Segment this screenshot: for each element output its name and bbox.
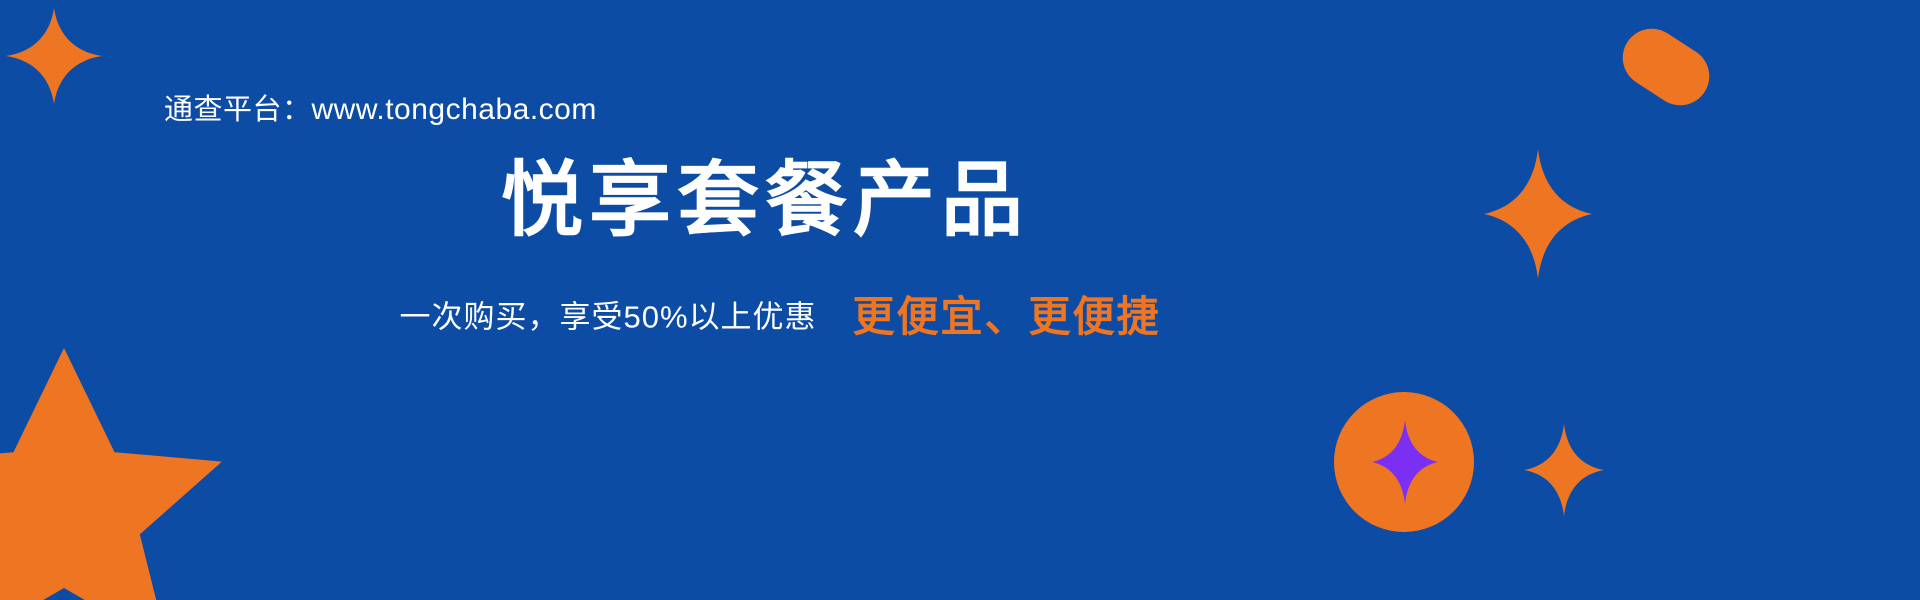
- platform-label: 通查平台：: [164, 94, 312, 126]
- subtitle-highlight-text: 更便宜、更便捷: [853, 293, 1161, 340]
- five-point-star-icon: [0, 348, 224, 600]
- subtitle-inner: 一次购买，享受50%以上优惠更便宜、更便捷: [399, 296, 1160, 338]
- platform-url: www.tongchaba.com: [312, 93, 597, 126]
- platform-url-line: 通查平台：www.tongchaba.com: [164, 86, 597, 128]
- sparkle-star-icon: [1524, 424, 1604, 516]
- sparkle-star-icon: [1372, 420, 1438, 504]
- subtitle-plain-text: 一次购买，享受50%以上优惠: [399, 300, 816, 335]
- page-title: 悦享套餐产品: [0, 160, 1920, 242]
- promo-banner: 通查平台：www.tongchaba.com 悦享套餐产品 一次购买，享受50%…: [0, 0, 1920, 600]
- page-title-text: 悦享套餐产品: [501, 160, 1029, 242]
- subtitle-line: 一次购买，享受50%以上优惠更便宜、更便捷: [0, 296, 1920, 338]
- sparkle-star-icon: [6, 6, 102, 106]
